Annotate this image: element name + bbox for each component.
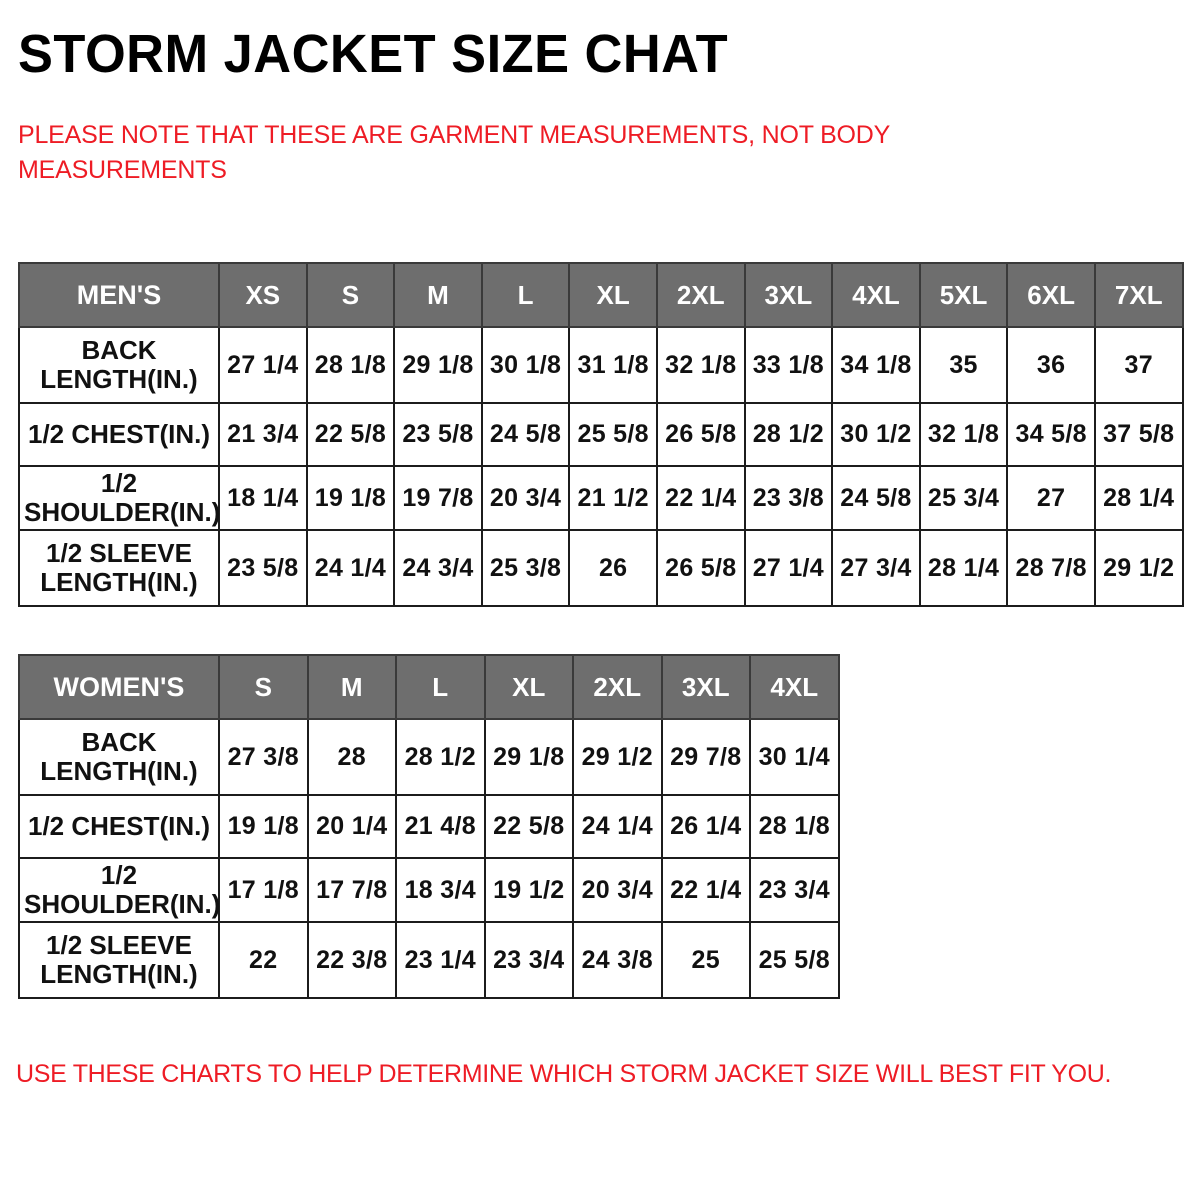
cell-value: 29 1/2 — [573, 719, 662, 795]
cell-value: 37 — [1095, 327, 1183, 403]
cell-value: 27 — [1007, 466, 1095, 530]
mens-header-4xl: 4XL — [832, 263, 920, 327]
cell-value: 31 1/8 — [569, 327, 657, 403]
cell-value: 35 — [920, 327, 1008, 403]
cell-value: 25 3/4 — [920, 466, 1008, 530]
cell-value: 34 1/8 — [832, 327, 920, 403]
table-row: BACK LENGTH(IN.) 27 3/8 28 28 1/2 29 1/8… — [19, 719, 839, 795]
womens-header-4xl: 4XL — [750, 655, 839, 719]
cell-value: 24 5/8 — [832, 466, 920, 530]
row-label-half-chest: 1/2 CHEST(IN.) — [19, 795, 219, 858]
womens-header-l: L — [396, 655, 485, 719]
cell-value: 30 1/8 — [482, 327, 570, 403]
cell-value: 22 5/8 — [485, 795, 574, 858]
cell-value: 33 1/8 — [745, 327, 833, 403]
womens-header-xl: XL — [485, 655, 574, 719]
row-label-back-length: BACK LENGTH(IN.) — [19, 719, 219, 795]
cell-value: 27 1/4 — [219, 327, 307, 403]
mens-header-row: MEN'S XS S M L XL 2XL 3XL 4XL 5XL 6XL 7X… — [19, 263, 1183, 327]
cell-value: 19 1/2 — [485, 858, 574, 922]
mens-header-m: M — [394, 263, 482, 327]
cell-value: 18 1/4 — [219, 466, 307, 530]
cell-value: 28 1/8 — [750, 795, 839, 858]
mens-header-xl: XL — [569, 263, 657, 327]
mens-header-label: MEN'S — [19, 263, 219, 327]
cell-value: 25 — [662, 922, 751, 998]
cell-value: 26 1/4 — [662, 795, 751, 858]
row-label-line: 1/2 SHOULDER(IN.) — [24, 861, 214, 919]
row-label-half-shoulder: 1/2 SHOULDER(IN.) — [19, 858, 219, 922]
womens-header-m: M — [308, 655, 397, 719]
cell-value: 23 3/4 — [485, 922, 574, 998]
cell-value: 28 1/8 — [307, 327, 395, 403]
cell-value: 20 3/4 — [482, 466, 570, 530]
cell-value: 23 5/8 — [394, 403, 482, 466]
womens-table-body: BACK LENGTH(IN.) 27 3/8 28 28 1/2 29 1/8… — [19, 719, 839, 998]
mens-header-s: S — [307, 263, 395, 327]
cell-value: 22 1/4 — [662, 858, 751, 922]
cell-value: 26 5/8 — [657, 530, 745, 606]
cell-value: 25 5/8 — [750, 922, 839, 998]
womens-header-3xl: 3XL — [662, 655, 751, 719]
table-row: BACK LENGTH(IN.) 27 1/4 28 1/8 29 1/8 30… — [19, 327, 1183, 403]
row-label-line: 1/2 CHEST(IN.) — [24, 812, 214, 841]
cell-value: 36 — [1007, 327, 1095, 403]
row-label-back-length: BACK LENGTH(IN.) — [19, 327, 219, 403]
cell-value: 28 1/4 — [1095, 466, 1183, 530]
cell-value: 28 1/2 — [745, 403, 833, 466]
cell-value: 27 3/8 — [219, 719, 308, 795]
cell-value: 19 7/8 — [394, 466, 482, 530]
row-label-half-sleeve-length: 1/2 SLEEVE LENGTH(IN.) — [19, 530, 219, 606]
row-label-line: BACK — [24, 336, 214, 365]
womens-table-head: WOMEN'S S M L XL 2XL 3XL 4XL — [19, 655, 839, 719]
table-row: 1/2 SHOULDER(IN.) 17 1/8 17 7/8 18 3/4 1… — [19, 858, 839, 922]
womens-header-2xl: 2XL — [573, 655, 662, 719]
cell-value: 20 3/4 — [573, 858, 662, 922]
mens-header-6xl: 6XL — [1007, 263, 1095, 327]
row-label-line: LENGTH(IN.) — [24, 757, 214, 786]
cell-value: 28 7/8 — [1007, 530, 1095, 606]
cell-value: 34 5/8 — [1007, 403, 1095, 466]
row-label-line: BACK — [24, 728, 214, 757]
cell-value: 21 4/8 — [396, 795, 485, 858]
cell-value: 24 3/4 — [394, 530, 482, 606]
cell-value: 22 — [219, 922, 308, 998]
row-label-line: 1/2 SHOULDER(IN.) — [24, 469, 214, 527]
cell-value: 22 1/4 — [657, 466, 745, 530]
cell-value: 29 7/8 — [662, 719, 751, 795]
mens-header-7xl: 7XL — [1095, 263, 1183, 327]
cell-value: 17 7/8 — [308, 858, 397, 922]
mens-header-l: L — [482, 263, 570, 327]
garment-measurement-note: PLEASE NOTE THAT THESE ARE GARMENT MEASU… — [18, 118, 978, 187]
cell-value: 29 1/8 — [485, 719, 574, 795]
cell-value: 24 1/4 — [307, 530, 395, 606]
table-row: 1/2 CHEST(IN.) 21 3/4 22 5/8 23 5/8 24 5… — [19, 403, 1183, 466]
size-chart-page: STORM JACKET SIZE CHAT PLEASE NOTE THAT … — [0, 0, 1200, 1200]
cell-value: 19 1/8 — [307, 466, 395, 530]
womens-header-row: WOMEN'S S M L XL 2XL 3XL 4XL — [19, 655, 839, 719]
mens-header-xs: XS — [219, 263, 307, 327]
cell-value: 22 3/8 — [308, 922, 397, 998]
cell-value: 19 1/8 — [219, 795, 308, 858]
cell-value: 23 3/8 — [745, 466, 833, 530]
cell-value: 24 5/8 — [482, 403, 570, 466]
table-row: 1/2 SLEEVE LENGTH(IN.) 22 22 3/8 23 1/4 … — [19, 922, 839, 998]
row-label-half-sleeve-length: 1/2 SLEEVE LENGTH(IN.) — [19, 922, 219, 998]
womens-header-label: WOMEN'S — [19, 655, 219, 719]
mens-header-3xl: 3XL — [745, 263, 833, 327]
cell-value: 28 — [308, 719, 397, 795]
cell-value: 25 5/8 — [569, 403, 657, 466]
fit-advice-note: USE THESE CHARTS TO HELP DETERMINE WHICH… — [16, 1058, 1126, 1091]
row-label-line: 1/2 CHEST(IN.) — [24, 420, 214, 449]
womens-size-table: WOMEN'S S M L XL 2XL 3XL 4XL BACK LENGTH… — [18, 654, 840, 999]
mens-size-table: MEN'S XS S M L XL 2XL 3XL 4XL 5XL 6XL 7X… — [18, 262, 1184, 607]
row-label-half-chest: 1/2 CHEST(IN.) — [19, 403, 219, 466]
cell-value: 20 1/4 — [308, 795, 397, 858]
cell-value: 23 1/4 — [396, 922, 485, 998]
row-label-half-shoulder: 1/2 SHOULDER(IN.) — [19, 466, 219, 530]
cell-value: 21 1/2 — [569, 466, 657, 530]
womens-header-s: S — [219, 655, 308, 719]
row-label-line: 1/2 SLEEVE — [24, 931, 214, 960]
cell-value: 17 1/8 — [219, 858, 308, 922]
cell-value: 30 1/2 — [832, 403, 920, 466]
cell-value: 21 3/4 — [219, 403, 307, 466]
table-row: 1/2 CHEST(IN.) 19 1/8 20 1/4 21 4/8 22 5… — [19, 795, 839, 858]
cell-value: 29 1/8 — [394, 327, 482, 403]
row-label-line: LENGTH(IN.) — [24, 365, 214, 394]
row-label-line: 1/2 SLEEVE — [24, 539, 214, 568]
mens-table-body: BACK LENGTH(IN.) 27 1/4 28 1/8 29 1/8 30… — [19, 327, 1183, 606]
cell-value: 25 3/8 — [482, 530, 570, 606]
cell-value: 23 5/8 — [219, 530, 307, 606]
cell-value: 29 1/2 — [1095, 530, 1183, 606]
cell-value: 22 5/8 — [307, 403, 395, 466]
mens-header-5xl: 5XL — [920, 263, 1008, 327]
cell-value: 37 5/8 — [1095, 403, 1183, 466]
cell-value: 28 1/2 — [396, 719, 485, 795]
table-row: 1/2 SLEEVE LENGTH(IN.) 23 5/8 24 1/4 24 … — [19, 530, 1183, 606]
row-label-line: LENGTH(IN.) — [24, 960, 214, 989]
page-title: STORM JACKET SIZE CHAT — [18, 26, 728, 83]
cell-value: 30 1/4 — [750, 719, 839, 795]
cell-value: 23 3/4 — [750, 858, 839, 922]
cell-value: 27 3/4 — [832, 530, 920, 606]
cell-value: 24 3/8 — [573, 922, 662, 998]
cell-value: 28 1/4 — [920, 530, 1008, 606]
mens-table-head: MEN'S XS S M L XL 2XL 3XL 4XL 5XL 6XL 7X… — [19, 263, 1183, 327]
cell-value: 24 1/4 — [573, 795, 662, 858]
table-row: 1/2 SHOULDER(IN.) 18 1/4 19 1/8 19 7/8 2… — [19, 466, 1183, 530]
mens-header-2xl: 2XL — [657, 263, 745, 327]
cell-value: 32 1/8 — [657, 327, 745, 403]
cell-value: 18 3/4 — [396, 858, 485, 922]
row-label-line: LENGTH(IN.) — [24, 568, 214, 597]
cell-value: 26 — [569, 530, 657, 606]
cell-value: 32 1/8 — [920, 403, 1008, 466]
cell-value: 26 5/8 — [657, 403, 745, 466]
cell-value: 27 1/4 — [745, 530, 833, 606]
